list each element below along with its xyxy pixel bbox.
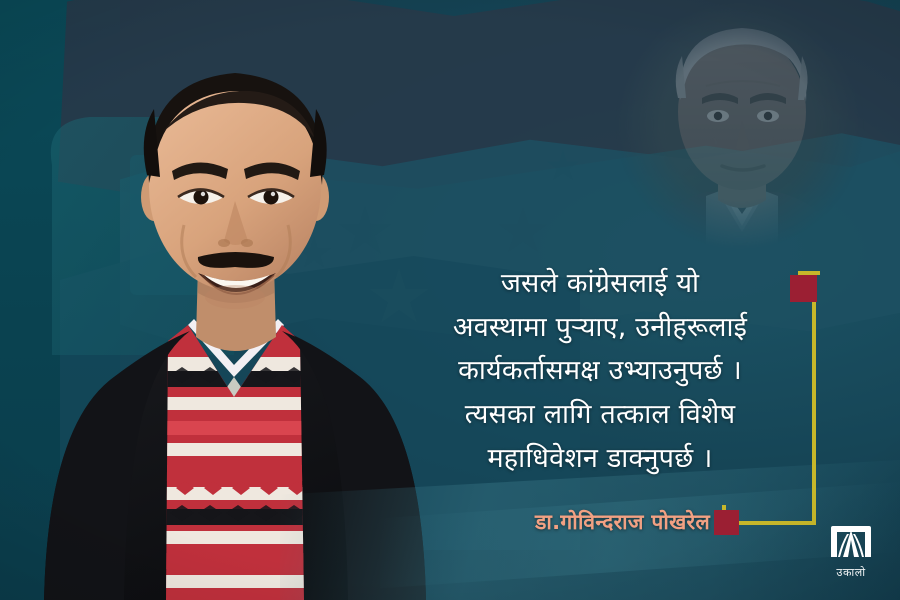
quote-line-1: जसले कांग्रेसलाई यो	[400, 262, 800, 306]
bracket-vertical-line	[812, 275, 816, 525]
quote-card: जसले कांग्रेसलाई यो अवस्थामा पुर्‍याए, उ…	[0, 0, 900, 600]
bracket-square-top	[790, 275, 817, 302]
quote-line-5: महाधिवेशन डाक्नुपर्छ ।	[400, 437, 800, 481]
mountain-path-icon	[828, 524, 874, 558]
publisher-wordmark: उकालो	[824, 565, 878, 580]
quote-line-2: अवस्थामा पुर्‍याए, उनीहरूलाई	[400, 306, 800, 350]
quote-text: जसले कांग्रेसलाई यो अवस्थामा पुर्‍याए, उ…	[400, 262, 800, 481]
quote-line-3: कार्यकर्तासमक्ष उभ्याउनुपर्छ ।	[400, 349, 800, 393]
quote-line-4: त्यसका लागि तत्काल विशेष	[400, 393, 800, 437]
bracket-square-bottom	[714, 510, 739, 535]
publisher-logo[interactable]: उकालो	[824, 524, 878, 582]
quote-attribution: डा.गोविन्दराज पोखरेल	[400, 508, 710, 536]
secondary-portrait	[610, 0, 870, 284]
